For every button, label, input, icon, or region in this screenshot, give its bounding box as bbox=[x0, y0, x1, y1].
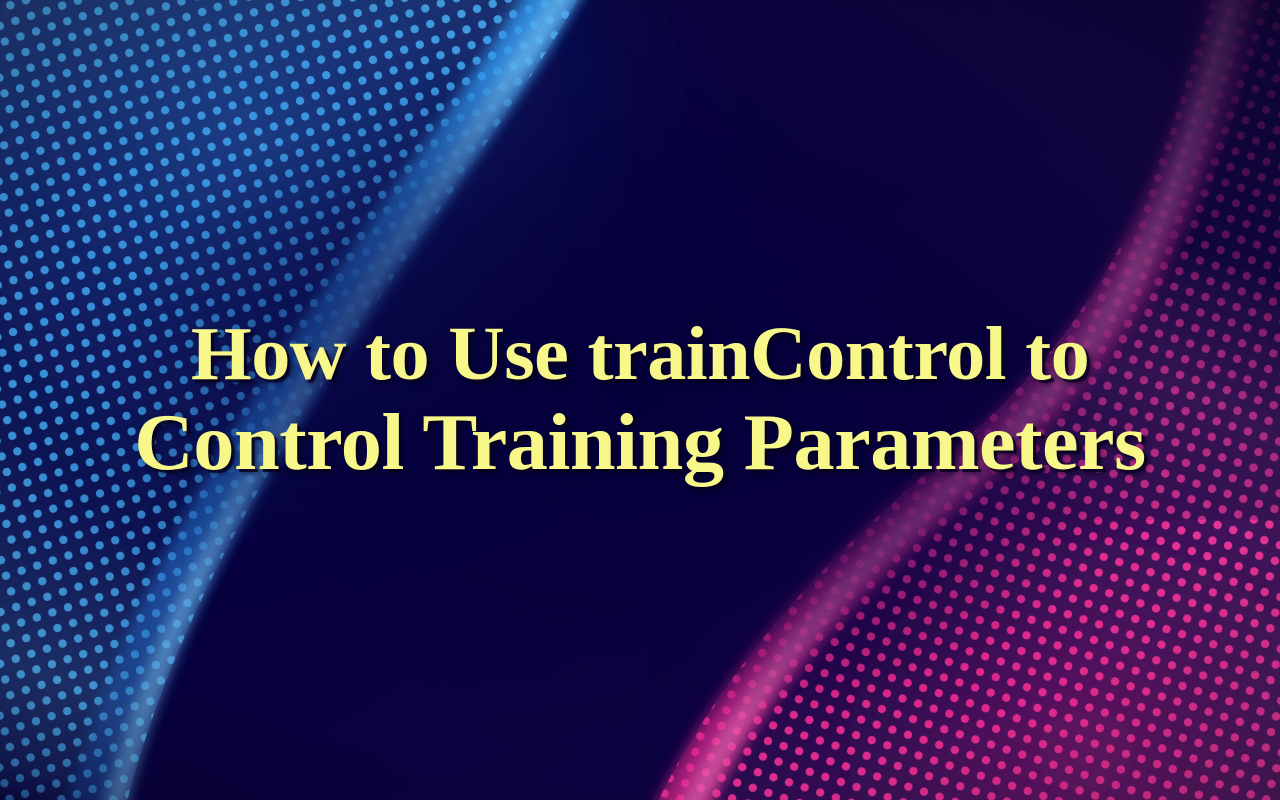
banner-title-line-2: Control Training Parameters bbox=[134, 398, 1145, 488]
banner-hero: How to Use trainControl to Control Train… bbox=[0, 0, 1280, 800]
banner-title-block: How to Use trainControl to Control Train… bbox=[0, 0, 1280, 800]
banner-title-line-1: How to Use trainControl to bbox=[191, 312, 1089, 398]
